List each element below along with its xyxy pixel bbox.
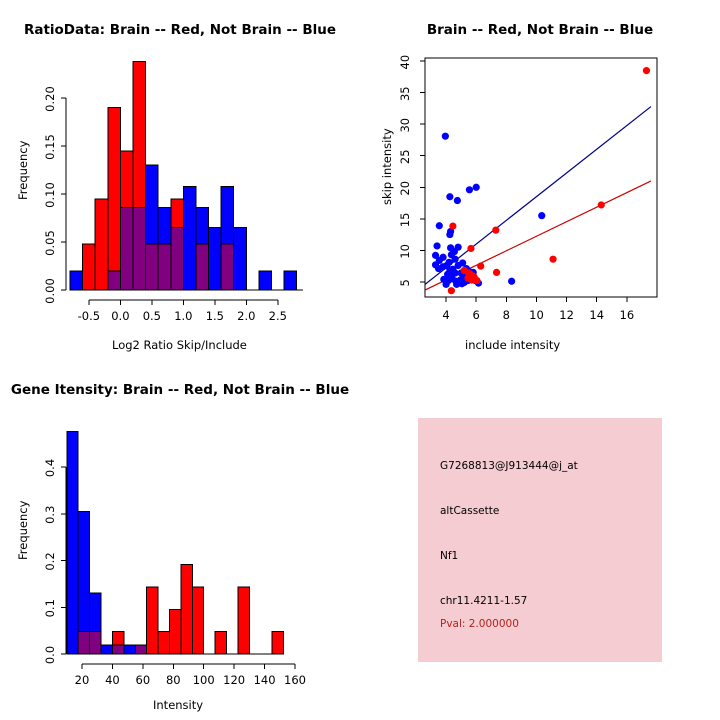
y-axis-tick-label: 0.3: [43, 506, 57, 524]
x-axis-tick-label: 120: [223, 673, 245, 687]
scatter-point: [446, 193, 453, 200]
scatter-point: [508, 278, 515, 285]
histogram-bar-gene: [101, 645, 112, 654]
scatter-point: [466, 186, 473, 193]
y-axis-tick-label: 0.4: [43, 459, 57, 477]
histogram-bar-ratio-overlap: [221, 244, 234, 290]
histogram-bar-ratio-overlap: [120, 207, 133, 290]
panel-scatter: Brain -- Red, Not Brain -- Blue skip int…: [360, 0, 720, 360]
histogram-bar-gene: [192, 587, 203, 654]
histogram-bar-ratio: [83, 244, 96, 290]
histogram-bar-ratio: [234, 228, 247, 290]
scatter-point: [454, 197, 461, 204]
histogram-bar-gene-overlap: [90, 632, 101, 654]
scatter-point: [449, 222, 456, 229]
scatter-point: [448, 287, 455, 294]
panel-info: G7268813@J913444@j_at altCassette Nf1 ch…: [360, 360, 720, 720]
histogram-bar-gene-overlap: [78, 632, 89, 654]
x-axis-tick-label: 14: [589, 308, 604, 322]
histogram-bar-ratio-overlap: [133, 207, 146, 290]
scatter-point: [453, 281, 460, 288]
y-axis-tick-label: 0.05: [43, 230, 57, 256]
y-axis-tick-label: 0.0: [43, 646, 57, 664]
histogram-bar-ratio-overlap: [146, 244, 159, 290]
histogram-bar-ratio: [108, 108, 121, 290]
histogram-bar-gene: [272, 632, 283, 654]
info-gene-symbol: Nf1: [440, 550, 458, 562]
x-axis-tick-label: 20: [75, 673, 90, 687]
scatter-point: [439, 254, 446, 261]
y-axis-tick-label: 0.1: [43, 599, 57, 617]
x-axis-tick-label: 100: [193, 673, 215, 687]
scatter-point: [493, 269, 500, 276]
scatter-point: [467, 245, 474, 252]
histogram-bar-ratio-overlap: [196, 244, 209, 290]
histogram-bar-gene: [67, 431, 78, 654]
histogram-bar-gene: [215, 632, 226, 654]
x-axis-tick-label: 2.0: [237, 309, 255, 323]
histogram-bar-ratio-overlap: [171, 228, 184, 290]
y-axis-tick-label: 0.2: [43, 552, 57, 570]
x-axis-tick-label: 0.0: [111, 309, 129, 323]
x-axis-tick-label: 0.5: [143, 309, 161, 323]
info-locus: chr11.4211-1.57: [440, 595, 527, 607]
x-axis-tick-label: 16: [620, 308, 635, 322]
info-event-type: altCassette: [440, 505, 499, 517]
scatter-point: [465, 269, 472, 276]
histogram-bar-ratio-overlap: [108, 271, 121, 290]
scatter-point: [492, 227, 499, 234]
scatter-point: [436, 222, 443, 229]
y-axis-tick-label: 0.00: [43, 278, 57, 304]
plot-page: RatioData: Brain -- Red, Not Brain -- Bl…: [0, 0, 720, 720]
scatter-point: [538, 212, 545, 219]
scatter-point: [549, 256, 556, 263]
histogram-bar-gene: [124, 645, 135, 654]
info-box: G7268813@J913444@j_at altCassette Nf1 ch…: [418, 418, 662, 662]
x-axis-tick-label: 60: [136, 673, 151, 687]
info-pval: Pval: 2.000000: [440, 618, 519, 630]
histogram-bar-ratio: [284, 271, 297, 290]
panel-ratio-histogram: RatioData: Brain -- Red, Not Brain -- Bl…: [0, 0, 360, 360]
histogram-bar-gene-overlap: [135, 645, 146, 654]
scatter-data-layer: [425, 67, 651, 294]
info-probe-id: G7268813@J913444@j_at: [440, 460, 578, 472]
regression-line: [425, 107, 651, 285]
histogram-bar-gene: [158, 632, 169, 654]
x-axis-tick-label: 8: [503, 308, 510, 322]
histogram-bar-ratio: [259, 271, 272, 290]
x-axis-tick-label: 1.5: [206, 309, 224, 323]
y-axis-tick-label: 40: [398, 55, 412, 70]
scatter-point: [446, 231, 453, 238]
y-axis-tick-label: 25: [398, 149, 412, 164]
scatter-canvas: 51015202530354046810121416: [360, 0, 720, 360]
x-axis-tick-label: 40: [105, 673, 120, 687]
histogram-bar-gene: [181, 565, 192, 654]
y-axis-tick-label: 30: [398, 118, 412, 133]
x-axis-tick-label: -0.5: [78, 309, 100, 323]
histogram-bar-ratio: [183, 186, 196, 290]
histogram-bar-ratio: [209, 228, 222, 290]
y-axis-tick-label: 35: [398, 86, 412, 101]
x-axis-tick-label: 1.0: [174, 309, 192, 323]
scatter-point: [442, 281, 449, 288]
scatter-point: [477, 263, 484, 270]
y-axis-tick-label: 20: [398, 181, 412, 196]
histogram-bar-gene: [169, 610, 180, 654]
scatter-point: [451, 248, 458, 255]
y-axis-tick-label: 10: [398, 244, 412, 259]
y-axis-tick-label: 0.10: [43, 182, 57, 208]
histogram-bar-ratio: [70, 271, 83, 290]
y-axis-tick-label: 15: [398, 212, 412, 227]
scatter-point: [433, 242, 440, 249]
x-axis-tick-label: 140: [254, 673, 276, 687]
x-axis-tick-label: 160: [284, 673, 306, 687]
y-axis-tick-label: 5: [398, 279, 412, 286]
histogram-bar-ratio-overlap: [158, 244, 171, 290]
gene-histogram-canvas: 0.00.10.20.30.420406080100120140160: [0, 360, 360, 720]
x-axis-tick-label: 10: [529, 308, 544, 322]
y-axis-tick-label: 0.20: [43, 86, 57, 112]
histogram-bar-gene: [147, 587, 158, 654]
x-axis-tick-label: 12: [559, 308, 574, 322]
scatter-point: [643, 67, 650, 74]
scatter-point: [598, 201, 605, 208]
histogram-bar-gene: [238, 587, 249, 654]
scatter-point: [473, 184, 480, 191]
panel-gene-histogram: Gene Itensity: Brain -- Red, Not Brain -…: [0, 360, 360, 720]
x-axis-tick-label: 80: [166, 673, 181, 687]
ratio-histogram-canvas: 0.000.050.100.150.20-0.50.00.51.01.52.02…: [0, 0, 360, 360]
scatter-point: [442, 133, 449, 140]
x-axis-tick-label: 2.5: [269, 309, 287, 323]
y-axis-tick-label: 0.15: [43, 134, 57, 160]
x-axis-tick-label: 6: [473, 308, 480, 322]
histogram-bar-ratio: [95, 199, 108, 290]
histogram-bar-gene-overlap: [112, 645, 123, 654]
x-axis-tick-label: 4: [442, 308, 449, 322]
